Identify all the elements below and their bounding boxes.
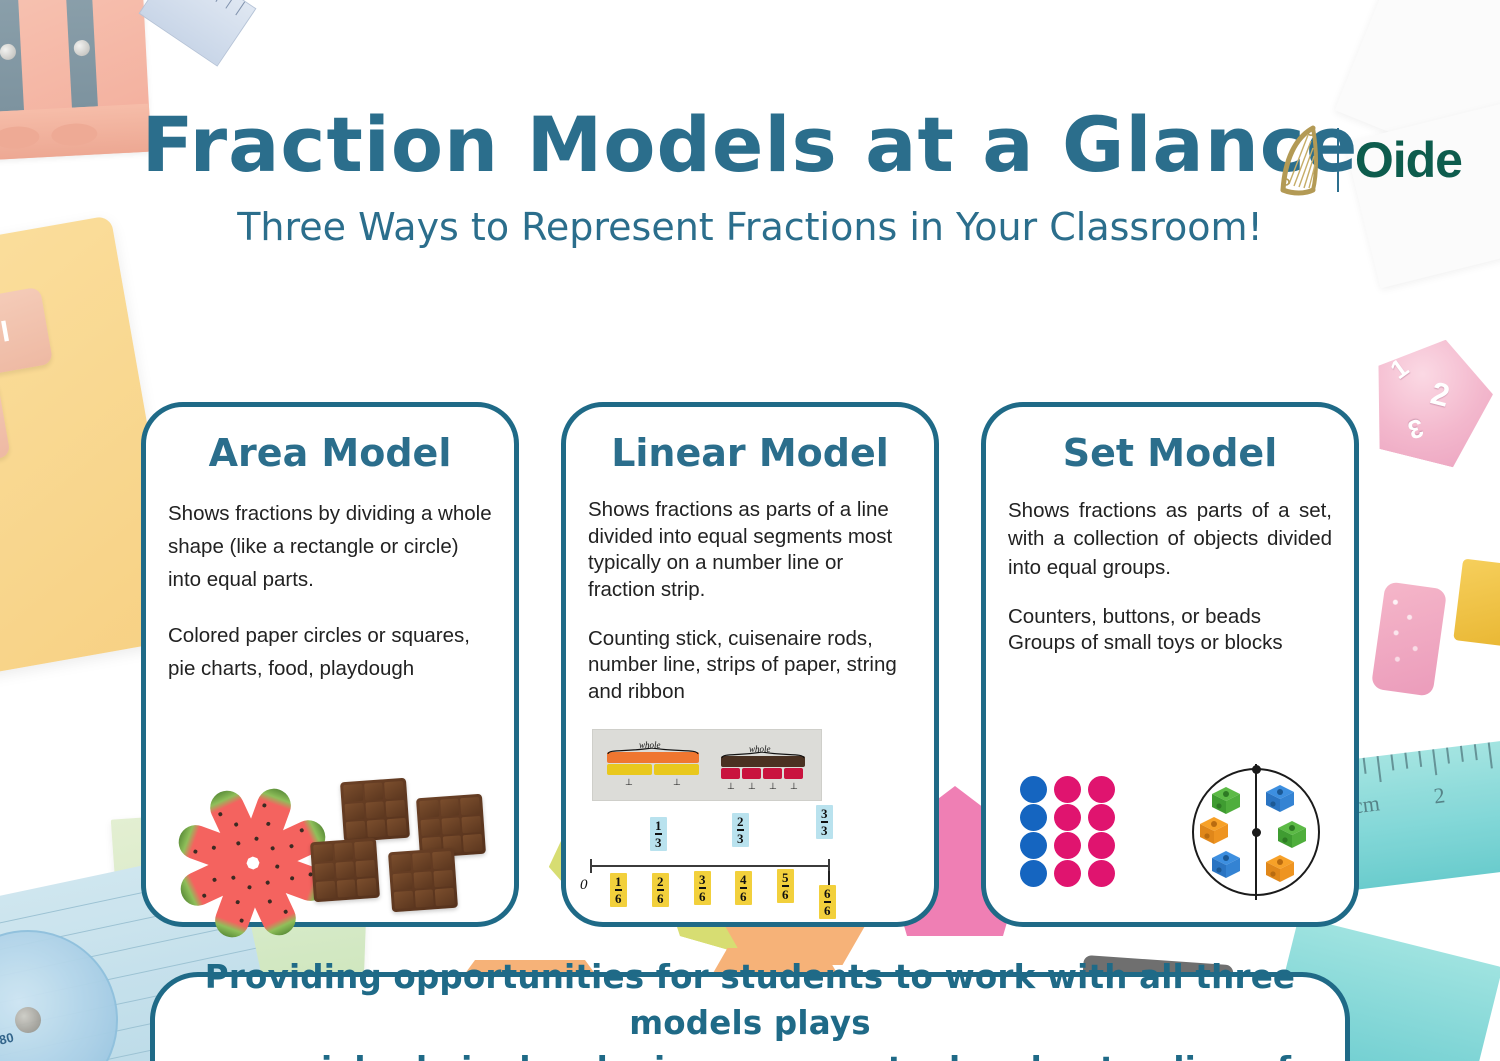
- irish-harp-icon: [1275, 124, 1321, 196]
- card-title-linear: Linear Model: [588, 431, 912, 475]
- card-title-set: Set Model: [1008, 431, 1332, 475]
- fraction-chip-upper: 13: [650, 817, 667, 851]
- model-cards-row: Area Model Shows fractions by dividing a…: [0, 402, 1500, 927]
- number-line-zero: 0: [580, 877, 588, 894]
- fraction-chip-lower: 46: [735, 871, 752, 905]
- set-model-art: [986, 746, 1354, 906]
- logo-divider: [1337, 128, 1339, 192]
- fraction-chip-upper: 23: [732, 813, 749, 847]
- card-title-area: Area Model: [168, 431, 492, 475]
- protractor-label-180: 180: [0, 1030, 15, 1050]
- cube-orange: [1198, 814, 1230, 846]
- cube-blue: [1264, 782, 1296, 814]
- fraction-chip-lower: 26: [652, 873, 669, 907]
- chocolate-bars-icon: [340, 778, 410, 842]
- logo-wordmark: Oide: [1355, 131, 1462, 189]
- card-examples-set: Counters, buttons, or beads Groups of sm…: [1008, 604, 1332, 657]
- chocolate-bars-icon: [310, 838, 380, 902]
- banner-line-2: a crucial role in developing a conceptua…: [155, 1046, 1345, 1061]
- card-examples-linear: Counting stick, cuisenaire rods, number …: [588, 626, 912, 706]
- banner-line-1: Providing opportunities for students to …: [155, 954, 1345, 1046]
- fraction-chip-lower: 36: [694, 871, 711, 905]
- fraction-chip-lower: 66: [819, 885, 836, 919]
- fraction-chip-upper: 33: [816, 805, 833, 839]
- cube-green: [1210, 784, 1242, 816]
- card-set-model: Set Model Shows fractions as parts of a …: [981, 402, 1359, 927]
- number-line-diagram: 0 13 23 33 16 26 36: [574, 805, 844, 915]
- card-linear-model: Linear Model Shows fractions as parts of…: [561, 402, 939, 927]
- oide-logo: Oide: [1275, 124, 1462, 196]
- summary-banner: Providing opportunities for students to …: [150, 972, 1350, 1061]
- ruler-shard-prop: [139, 0, 257, 67]
- rod-part-label: ⊥: [748, 781, 756, 792]
- rod-part-label: ⊥: [790, 781, 798, 792]
- card-area-model: Area Model Shows fractions by dividing a…: [141, 402, 519, 927]
- rod-part-label: ⊥: [769, 781, 777, 792]
- chocolate-bars-icon: [388, 848, 458, 912]
- cuisenaire-rods-photo: whole ⊥ ⊥ whole: [592, 729, 822, 801]
- calculator-key-2: II: [0, 287, 53, 380]
- cube-orange: [1264, 852, 1296, 884]
- rod-part-label: ⊥: [673, 777, 681, 788]
- watermelon-slices-icon: [178, 792, 328, 900]
- page-subtitle: Three Ways to Represent Fractions in You…: [0, 205, 1500, 249]
- cube-green: [1276, 818, 1308, 850]
- counter-grid-icon: [1020, 776, 1122, 888]
- cube-blue: [1210, 848, 1242, 880]
- area-model-art: [146, 756, 514, 906]
- cube-set-circle-icon: [1192, 768, 1320, 896]
- rod-part-label: ⊥: [625, 777, 633, 788]
- card-description-set: Shows fractions as parts of a set, with …: [1008, 497, 1332, 582]
- card-description-linear: Shows fractions as parts of a line divid…: [588, 497, 912, 604]
- rod-part-label: ⊥: [727, 781, 735, 792]
- card-description-area: Shows fractions by dividing a whole shap…: [168, 497, 492, 597]
- fraction-chip-lower: 16: [610, 873, 627, 907]
- fraction-chip-lower: 56: [777, 869, 794, 903]
- card-examples-area: Colored paper circles or squares, pie ch…: [168, 619, 492, 685]
